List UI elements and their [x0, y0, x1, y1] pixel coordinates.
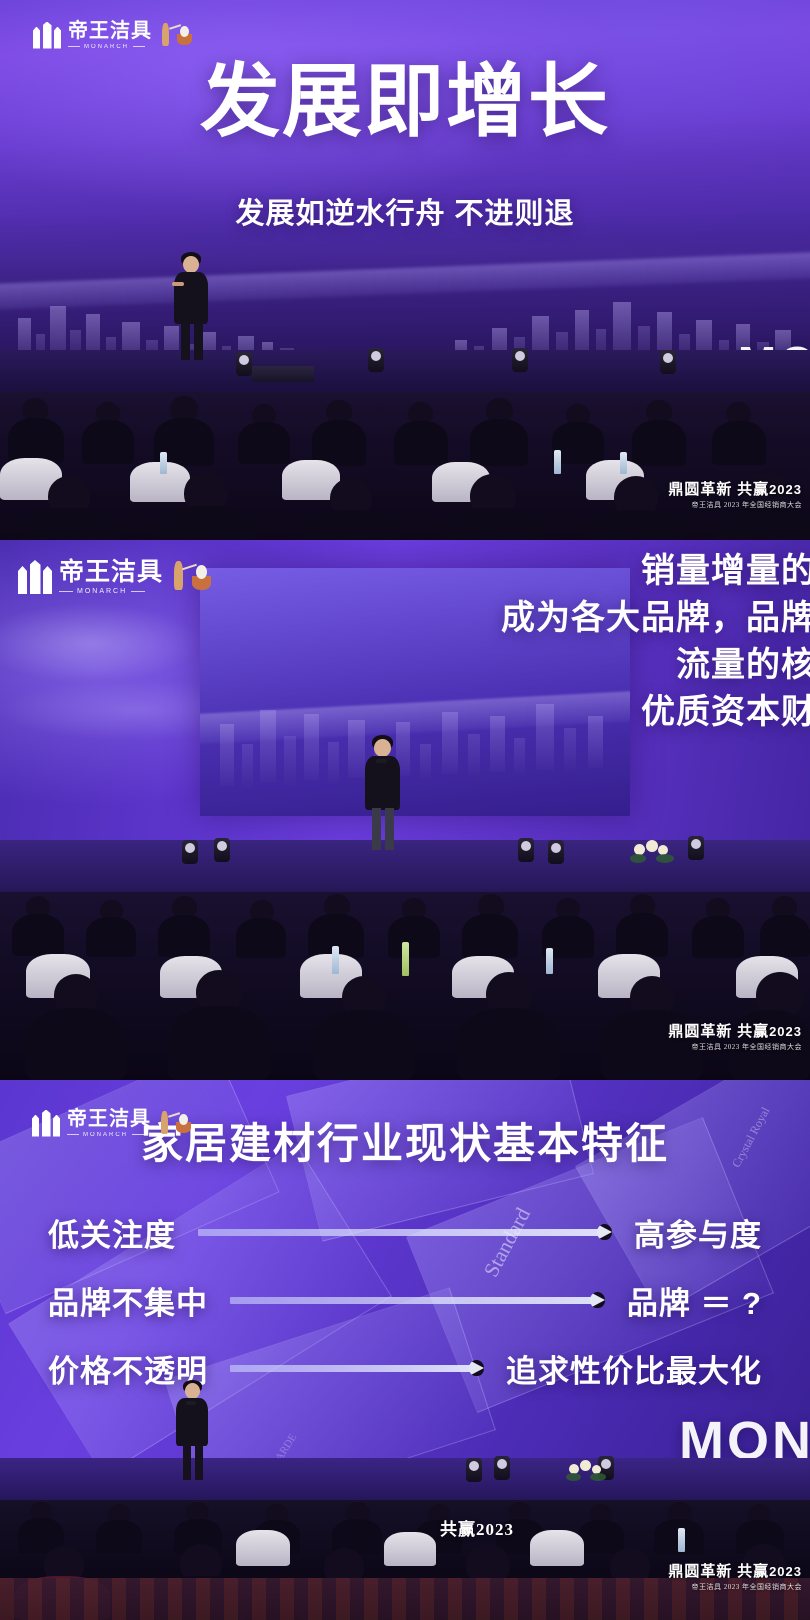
speaker-figure-2 — [358, 735, 408, 850]
stage-moving-light — [368, 348, 384, 372]
brand-name-en: MONARCH — [84, 44, 129, 50]
flower-arrangement — [630, 840, 674, 870]
city-skyline-graphic — [0, 215, 810, 370]
person-washbasin-icon — [158, 1108, 192, 1138]
slide-subtitle-1: 发展如逆水行舟 不进则退 — [0, 190, 810, 232]
feature-left-label: 品牌不集中 — [48, 1278, 208, 1323]
stage-moving-light — [182, 840, 198, 864]
watermark-main-1: 鼎圆革新 共赢2023 — [668, 478, 802, 499]
photo-panel-2: 销量增量的 成为各大品牌，品牌 流量的核 优质资本财 — [0, 540, 810, 1080]
brand-name-en: MONARCH — [83, 1132, 128, 1138]
watermark-sub-3: 帝王洁具 2023 年全国经销商大会 — [668, 1582, 802, 1592]
brand-name-cn: 帝王洁具 — [67, 1109, 151, 1129]
event-watermark-1: 鼎圆革新 共赢2023 帝王洁具 2023 年全国经销商大会 — [668, 478, 802, 510]
monarch-crown-icon — [32, 1110, 60, 1137]
slide-line-1: 销量增量的 — [501, 548, 810, 595]
flower-arrangement — [566, 1460, 606, 1488]
stage-table — [252, 366, 314, 382]
stage-moving-light — [688, 836, 704, 860]
feature-rows-list: 低关注度 高参与度 品牌不集中 品牌 ＝ ? 价格不透明 追求性价比最大化 — [0, 1198, 810, 1402]
feature-row: 价格不透明 追求性价比最大化 — [0, 1334, 810, 1402]
stage-moving-light — [660, 350, 676, 374]
feature-row: 品牌不集中 品牌 ＝ ? — [0, 1266, 810, 1334]
audience-crowd — [0, 392, 810, 540]
slide-line-4: 优质资本财 — [501, 689, 810, 736]
brand-logo-3[interactable]: 帝王洁具 MONARCH — [32, 1108, 192, 1138]
arrow-right-icon — [230, 1362, 484, 1374]
speaker-figure-3 — [170, 1380, 216, 1480]
slide-line-2: 成为各大品牌，品牌 — [501, 595, 810, 642]
watermark-sub-1: 帝王洁具 2023 年全国经销商大会 — [668, 500, 802, 510]
stage-moving-light — [548, 840, 564, 864]
brand-name-cn: 帝王洁具 — [59, 560, 163, 585]
brand-name-en-row: MONARCH — [59, 588, 163, 595]
brand-logo-text: 帝王洁具 MONARCH — [68, 21, 152, 50]
slide-text-block-2: 销量增量的 成为各大品牌，品牌 流量的核 优质资本财 — [501, 548, 810, 736]
brand-name-cn: 帝王洁具 — [68, 21, 152, 41]
event-watermark-2: 鼎圆革新 共赢2023 帝王洁具 2023 年全国经销商大会 — [668, 1020, 802, 1052]
slide-line-3: 流量的核 — [501, 642, 810, 689]
audience-area-1 — [0, 392, 810, 540]
brand-name-en-row: MONARCH — [67, 1132, 151, 1138]
brand-name-en-row: MONARCH — [68, 44, 152, 50]
photo-collage: 发展即增长 发展如逆水行舟 不进则退 MO — [0, 0, 810, 1620]
stage-moving-light — [214, 838, 230, 862]
feature-right-label: 追求性价比最大化 — [506, 1346, 762, 1391]
event-watermark-3: 鼎圆革新 共赢2023 帝王洁具 2023 年全国经销商大会 — [668, 1560, 802, 1592]
feature-right-label: 品牌 ＝ ? — [627, 1278, 762, 1323]
stage-moving-light — [466, 1458, 482, 1482]
stage-front-banner: 共赢2023 — [440, 1515, 514, 1540]
watermark-main-3: 鼎圆革新 共赢2023 — [668, 1560, 802, 1581]
speaker-figure-1 — [168, 252, 216, 360]
stage-moving-light — [512, 348, 528, 372]
monarch-crown-icon — [18, 560, 52, 594]
monarch-crown-icon — [33, 22, 61, 49]
brand-logo-1[interactable]: 帝王洁具 MONARCH — [33, 20, 193, 50]
stage-moving-light — [236, 352, 252, 376]
person-washbasin-icon — [170, 558, 212, 596]
arrow-right-icon — [230, 1294, 605, 1306]
brand-name-en: MONARCH — [77, 588, 127, 595]
brand-logo-2[interactable]: 帝王洁具 MONARCH — [18, 558, 212, 596]
person-washbasin-icon — [159, 20, 193, 50]
brand-logo-text: 帝王洁具 MONARCH — [67, 1109, 151, 1138]
stage-moving-light — [518, 838, 534, 862]
arrow-right-icon — [198, 1226, 612, 1238]
stage-moving-light — [494, 1456, 510, 1480]
feature-left-label: 低关注度 — [48, 1210, 176, 1255]
watermark-sub-2: 帝王洁具 2023 年全国经销商大会 — [668, 1042, 802, 1052]
watermark-main-2: 鼎圆革新 共赢2023 — [668, 1020, 802, 1041]
slide-title-1: 发展即增长 — [0, 62, 810, 142]
feature-right-label: 高参与度 — [634, 1210, 762, 1255]
photo-panel-3: Standard Crystal Royal AVANTGARDE 家居建材行业… — [0, 1080, 810, 1620]
photo-panel-1: 发展即增长 发展如逆水行舟 不进则退 MO — [0, 0, 810, 540]
feature-row: 低关注度 高参与度 — [0, 1198, 810, 1266]
brand-logo-text: 帝王洁具 MONARCH — [59, 560, 163, 595]
